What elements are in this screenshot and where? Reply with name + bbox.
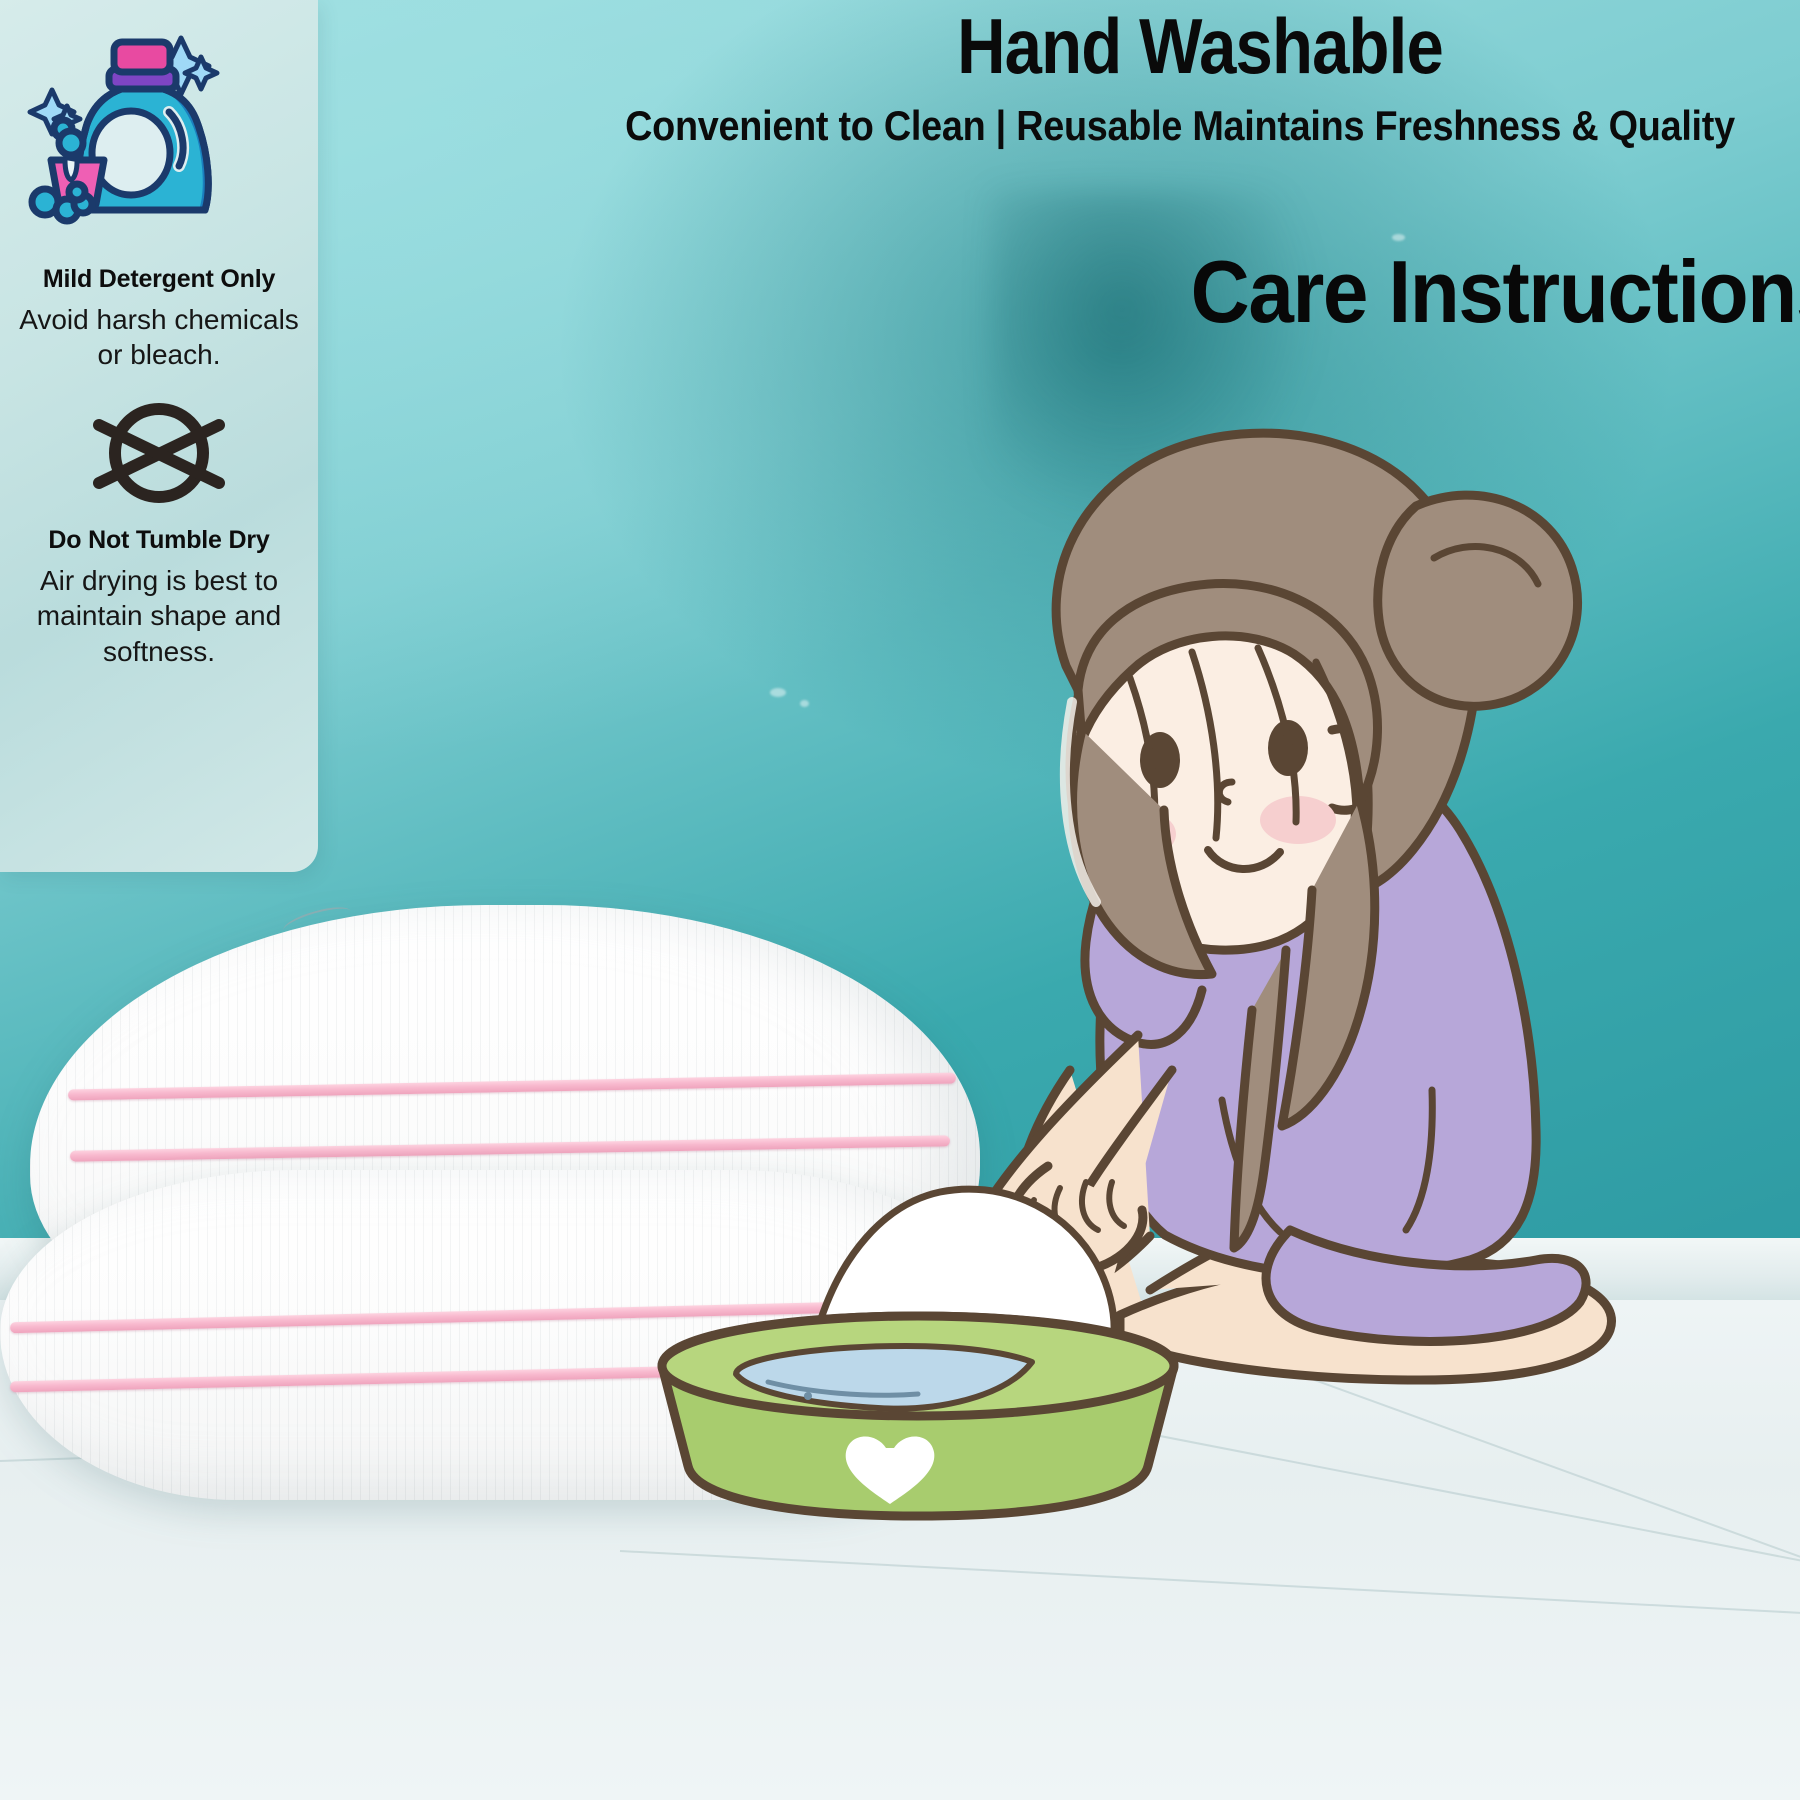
page-title: Hand Washable — [684, 6, 1716, 88]
care-panel: Mild Detergent Only Avoid harsh chemical… — [0, 0, 318, 872]
wall-speck — [770, 688, 786, 697]
floor-plank-line — [620, 1550, 1800, 1620]
care-item-heading-0: Mild Detergent Only — [43, 266, 275, 294]
wash-basin-illustration — [640, 1160, 1200, 1530]
care-item-body-1: Air drying is best to maintain shape and… — [9, 563, 309, 670]
no-tumble-dry-icon — [85, 395, 233, 511]
page-subtitle: Convenient to Clean | Reusable Maintains… — [622, 98, 1738, 155]
detergent-bottle-icon — [9, 14, 309, 266]
wall-speck — [800, 700, 809, 707]
wall-speck — [1392, 234, 1405, 241]
infographic-canvas: Mild Detergent Only Avoid harsh chemical… — [0, 0, 1800, 1800]
care-item-body-0: Avoid harsh chemicals or bleach. — [14, 302, 304, 374]
care-item-heading-1: Do Not Tumble Dry — [48, 527, 269, 555]
section-title: Care Instructions — [780, 248, 1800, 336]
